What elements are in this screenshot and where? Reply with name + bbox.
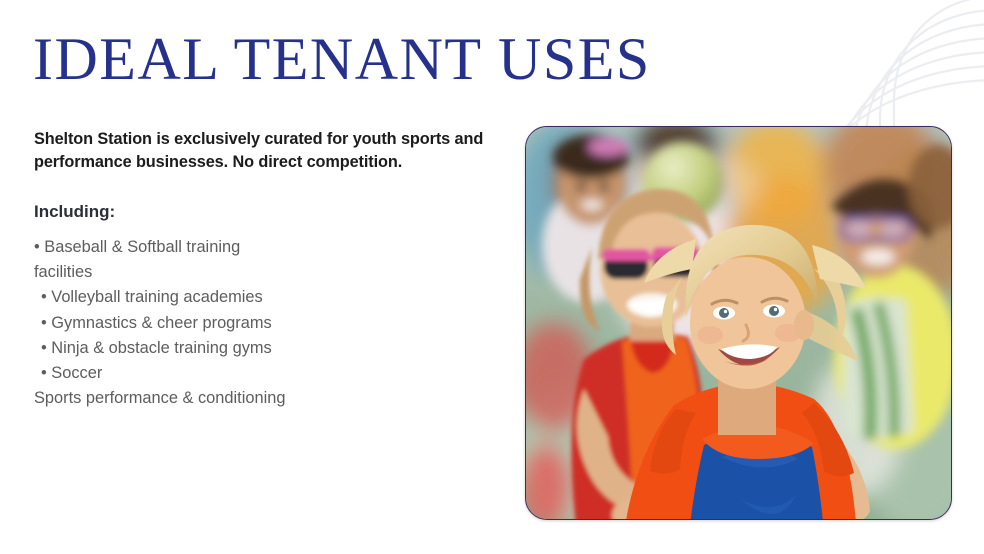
list-item: • Volleyball training academies bbox=[34, 285, 510, 310]
page-title: IDEAL TENANT USES bbox=[33, 28, 651, 91]
kids-sports-photo bbox=[525, 126, 952, 520]
including-heading: Including: bbox=[34, 202, 510, 222]
list-item: facilities bbox=[34, 260, 510, 285]
list-item: • Soccer bbox=[34, 361, 510, 386]
list-item: • Gymnastics & cheer programs bbox=[34, 311, 510, 336]
text-column: Shelton Station is exclusively curated f… bbox=[34, 128, 510, 411]
intro-paragraph: Shelton Station is exclusively curated f… bbox=[34, 128, 510, 174]
tenant-use-list: • Baseball & Softball training facilitie… bbox=[34, 235, 510, 411]
list-item: • Ninja & obstacle training gyms bbox=[34, 336, 510, 361]
list-item: Sports performance & conditioning bbox=[34, 386, 510, 411]
slide-canvas: IDEAL TENANT USES Shelton Station is exc… bbox=[0, 0, 984, 554]
list-item: • Baseball & Softball training bbox=[34, 235, 510, 260]
